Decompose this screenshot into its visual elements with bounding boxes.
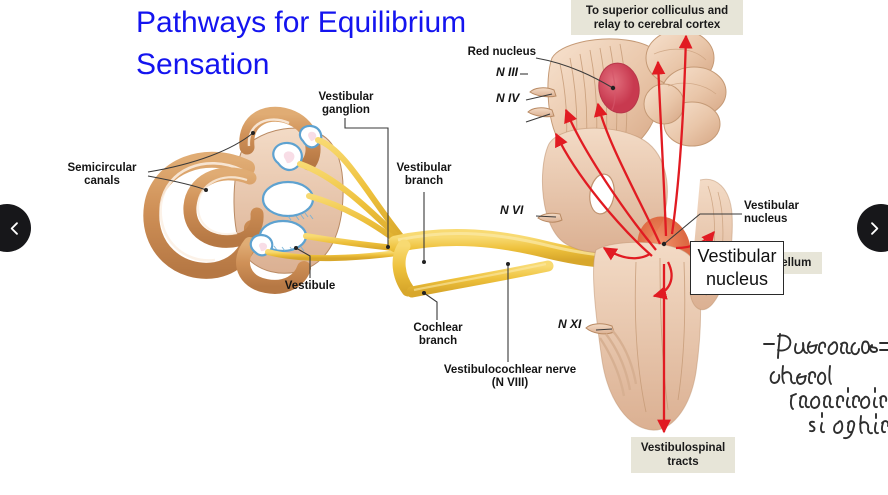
- label-nerve-six: N VI: [500, 204, 523, 217]
- box-vestibulospinal-tracts: Vestibulospinal tracts: [631, 437, 735, 473]
- label-vestibular-nucleus: Vestibular nucleus: [744, 200, 824, 226]
- page-title: Pathways for Equilibrium Sensation: [136, 2, 556, 86]
- label-red-nucleus: Red nucleus: [436, 46, 536, 59]
- chevron-right-icon: [866, 220, 883, 237]
- chevron-left-icon: [6, 220, 23, 237]
- label-vestibule: Vestibule: [266, 280, 354, 293]
- vestibular-nucleus-callout: Vestibular nucleus: [690, 241, 784, 295]
- label-semicircular-canals: Semicircular canals: [58, 162, 146, 188]
- label-vestibular-ganglion: Vestibular ganglion: [300, 91, 392, 117]
- inner-ear-labyrinth: [151, 114, 404, 287]
- label-cochlear-branch: Cochlear branch: [394, 322, 482, 348]
- red-arrows-handwritten-note: [762, 322, 888, 440]
- label-vestibular-branch: Vestibular branch: [380, 162, 468, 188]
- label-vestibulocochlear-nerve: Vestibulocochlear nerve (N VIII): [422, 364, 598, 390]
- slide-canvas: Pathways for Equilibrium Sensation Semic…: [0, 0, 888, 495]
- label-nerve-eleven: N XI: [558, 318, 581, 331]
- box-to-superior-colliculus: To superior colliculus and relay to cere…: [571, 0, 743, 35]
- label-nerve-four: N IV: [496, 92, 519, 105]
- label-nerve-three: N III: [496, 66, 518, 79]
